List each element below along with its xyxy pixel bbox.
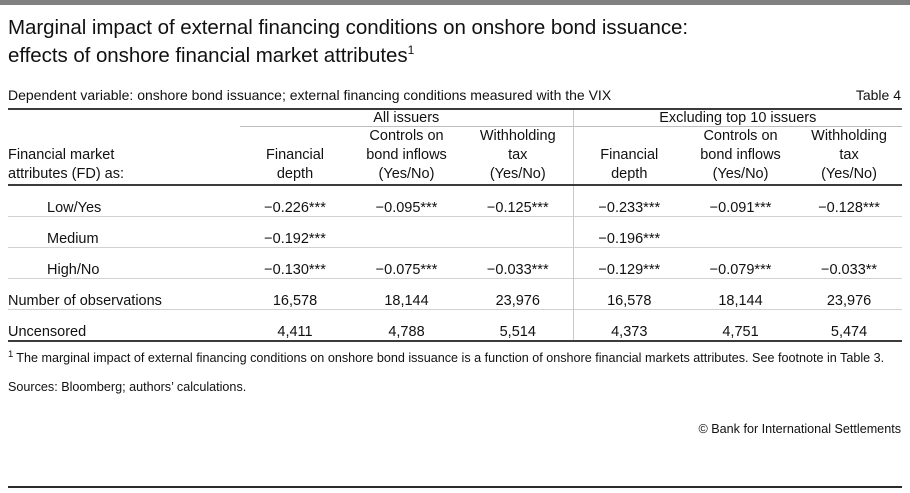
stub-header: Financial market attributes (FD) as: <box>8 127 240 186</box>
copyright-line: © Bank for International Settlements <box>8 420 902 438</box>
column-header-line-1: Withholding <box>811 128 887 144</box>
table-row: High/No −0.130*** −0.075*** −0.033*** −0… <box>8 248 902 279</box>
cell-value: 4,411 <box>240 310 350 342</box>
cell-value: −0.091*** <box>685 185 796 217</box>
column-header-line-2: tax <box>839 147 858 163</box>
cell-value: −0.033** <box>796 248 902 279</box>
cell-value: 18,144 <box>350 279 463 310</box>
row-label-number-of-observations: Number of observations <box>8 279 240 310</box>
cell-value: −0.196*** <box>573 217 685 248</box>
column-header-line-2: bond inflows <box>700 147 781 163</box>
page-title: Marginal impact of external financing co… <box>8 5 902 70</box>
column-header-line-2: tax <box>508 147 527 163</box>
table-page: Marginal impact of external financing co… <box>0 0 910 493</box>
cell-value: −0.226*** <box>240 185 350 217</box>
column-header-line-1: Withholding <box>480 128 556 144</box>
cell-value: −0.075*** <box>350 248 463 279</box>
cell-value: −0.095*** <box>350 185 463 217</box>
row-label-high-no: High/No <box>8 248 240 279</box>
column-header-withholding-tax-all: Withholding tax (Yes/No) <box>463 127 573 186</box>
page-bottom-rule <box>8 486 902 488</box>
stub-header-line-1: Financial market <box>8 147 114 163</box>
sources-line: Sources: Bloomberg; authors’ calculation… <box>8 378 902 396</box>
column-header-row: Financial market attributes (FD) as: Fin… <box>8 127 902 186</box>
spanner-stub-spacer <box>8 109 240 127</box>
column-header-line-1: Financial <box>600 147 658 163</box>
column-header-line-2: depth <box>277 166 313 182</box>
subtitle-row: Dependent variable: onshore bond issuanc… <box>8 87 902 108</box>
footnote-1: 1The marginal impact of external financi… <box>8 349 902 367</box>
table-subtitle: Dependent variable: onshore bond issuanc… <box>8 87 611 103</box>
cell-value: −0.129*** <box>573 248 685 279</box>
cell-value: −0.192*** <box>240 217 350 248</box>
spanner-excluding-top-10: Excluding top 10 issuers <box>573 109 902 127</box>
cell-value: −0.130*** <box>240 248 350 279</box>
table-number-label: Table 4 <box>856 87 902 103</box>
cell-value: 4,751 <box>685 310 796 342</box>
cell-value: 4,373 <box>573 310 685 342</box>
cell-value: 16,578 <box>240 279 350 310</box>
footnotes-block: 1The marginal impact of external financi… <box>8 349 902 438</box>
column-header-line-3: (Yes/No) <box>490 166 546 182</box>
page-title-line-2-text: effects of onshore financial market attr… <box>8 44 408 67</box>
table-bottom-rule <box>8 341 902 342</box>
cell-value: 16,578 <box>573 279 685 310</box>
column-header-financial-depth-all: Financial depth <box>240 127 350 186</box>
cell-value: −0.125*** <box>463 185 573 217</box>
column-header-line-3: (Yes/No) <box>821 166 877 182</box>
cell-value: 5,514 <box>463 310 573 342</box>
column-header-controls-bond-inflows-excl: Controls on bond inflows (Yes/No) <box>685 127 796 186</box>
column-header-withholding-tax-excl: Withholding tax (Yes/No) <box>796 127 902 186</box>
spanner-all-issuers: All issuers <box>240 109 573 127</box>
table-row: Number of observations 16,578 18,144 23,… <box>8 279 902 310</box>
row-label-medium: Medium <box>8 217 240 248</box>
cell-value: −0.033*** <box>463 248 573 279</box>
cell-value: 23,976 <box>463 279 573 310</box>
column-header-line-1: Controls on <box>703 128 777 144</box>
row-label-uncensored: Uncensored <box>8 310 240 342</box>
cell-value: 4,788 <box>350 310 463 342</box>
cell-value: 23,976 <box>796 279 902 310</box>
stub-header-line-2: attributes (FD) as: <box>8 166 124 182</box>
cell-value: −0.128*** <box>796 185 902 217</box>
column-header-line-1: Financial <box>266 147 324 163</box>
table-row: Low/Yes −0.226*** −0.095*** −0.125*** −0… <box>8 185 902 217</box>
page-title-line-1: Marginal impact of external financing co… <box>8 14 902 42</box>
cell-value <box>350 217 463 248</box>
cell-value: −0.233*** <box>573 185 685 217</box>
cell-value <box>685 217 796 248</box>
table-row: Medium −0.192*** −0.196*** <box>8 217 902 248</box>
cell-value: −0.079*** <box>685 248 796 279</box>
cell-value <box>463 217 573 248</box>
cell-value: 18,144 <box>685 279 796 310</box>
column-header-line-2: bond inflows <box>366 147 447 163</box>
table-row: Uncensored 4,411 4,788 5,514 4,373 4,751… <box>8 310 902 342</box>
page-title-line-2: effects of onshore financial market attr… <box>8 42 902 70</box>
column-header-financial-depth-excl: Financial depth <box>573 127 685 186</box>
footnote-1-text: The marginal impact of external financin… <box>16 351 884 365</box>
column-header-line-3: (Yes/No) <box>379 166 435 182</box>
row-label-low-yes: Low/Yes <box>8 185 240 217</box>
page-content: Marginal impact of external financing co… <box>8 5 902 438</box>
results-table: All issuers Excluding top 10 issuers Fin… <box>8 108 902 342</box>
cell-value <box>796 217 902 248</box>
page-title-footnote-marker: 1 <box>408 43 415 57</box>
spanner-header-row: All issuers Excluding top 10 issuers <box>8 109 902 127</box>
cell-value: 5,474 <box>796 310 902 342</box>
column-header-controls-bond-inflows-all: Controls on bond inflows (Yes/No) <box>350 127 463 186</box>
column-header-line-2: depth <box>611 166 647 182</box>
column-header-line-3: (Yes/No) <box>713 166 769 182</box>
column-header-line-1: Controls on <box>369 128 443 144</box>
